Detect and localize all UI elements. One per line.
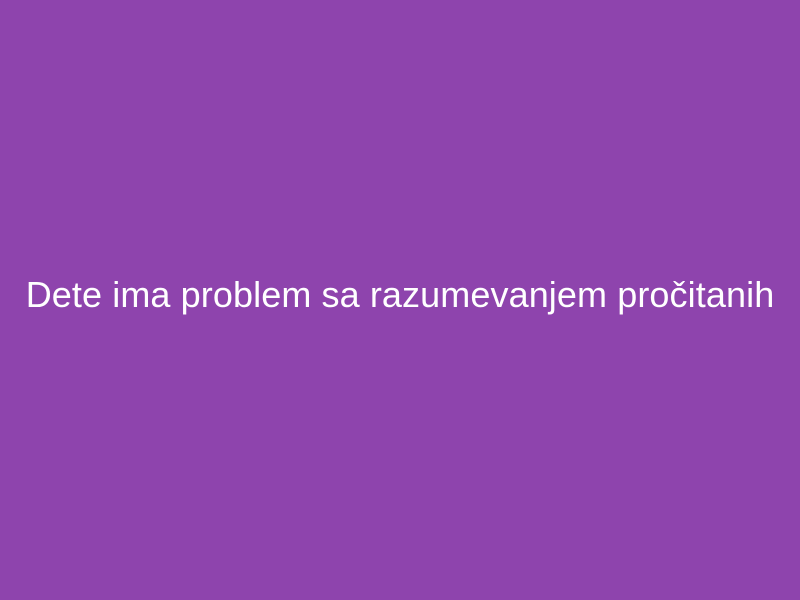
- share-card: Dete ima problem sa razumevanjem pročita…: [0, 0, 800, 600]
- headline-block: Dete ima problem sa razumevanjem pročita…: [0, 274, 800, 316]
- headline-text: Dete ima problem sa razumevanjem pročita…: [26, 274, 775, 316]
